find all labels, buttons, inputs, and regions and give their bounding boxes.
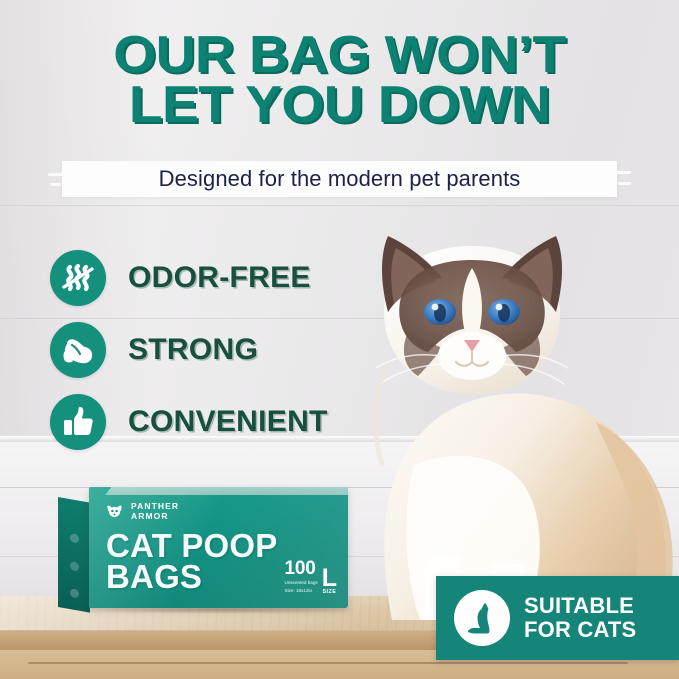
box-side-marks: [64, 532, 84, 600]
badge-line-2: FOR CATS: [524, 618, 636, 642]
panther-head-icon: [105, 502, 124, 521]
flexed-bicep-icon: [50, 322, 106, 378]
box-fine-print-2: Size: 18x12in: [285, 588, 318, 595]
drawer-seam: [28, 662, 628, 664]
headline-line-1: OUR BAG WON’T: [0, 33, 679, 79]
feature-label-odor-free: ODOR-FREE: [128, 261, 311, 295]
ragdoll-cat-photo: [296, 216, 679, 620]
odor-waves-slash-icon: [50, 250, 106, 306]
badge-text: SUITABLE FOR CATS: [524, 594, 636, 642]
suitable-for-cats-badge: SUITABLE FOR CATS: [436, 576, 679, 660]
sitting-cat-silhouette-icon: [462, 598, 502, 638]
brand-lockup: PANTHER ARMOR: [105, 501, 179, 522]
feature-item-strong: STRONG: [50, 319, 328, 381]
feature-label-convenient: CONVENIENT: [128, 405, 328, 439]
brand-text: PANTHER ARMOR: [131, 501, 179, 522]
headline: OUR BAG WON’T LET YOU DOWN: [0, 33, 679, 129]
box-size-letter: L: [322, 568, 337, 590]
box-count-left: 100 Unscented bags Size: 18x12in: [285, 559, 318, 595]
box-size-block: L SIZE: [322, 568, 337, 596]
feature-item-odor-free: ODOR-FREE: [50, 247, 328, 309]
box-count-block: 100 Unscented bags Size: 18x12in L SIZE: [285, 559, 337, 595]
thumbs-up-icon: [50, 394, 106, 450]
feature-list: ODOR-FREE STRONG CONVENIENT: [50, 247, 328, 463]
headline-line-2: LET YOU DOWN: [0, 83, 679, 129]
box-title-line-2: BAGS: [106, 562, 278, 593]
brand-line-1: PANTHER: [131, 501, 179, 511]
advertisement-image: OUR BAG WON’T LET YOU DOWN Designed for …: [0, 0, 679, 679]
box-count-number: 100: [285, 559, 318, 578]
feature-label-strong: STRONG: [128, 333, 258, 367]
wall-panel-line: [0, 205, 679, 206]
subtitle-text: Designed for the modern pet parents: [48, 166, 631, 192]
box-side-panel: [58, 497, 90, 613]
badge-icon-circle: [454, 590, 510, 646]
box-top-flap: [105, 487, 348, 495]
box-title: CAT POOP BAGS: [106, 531, 278, 592]
product-box: PANTHER ARMOR CAT POOP BAGS 100 Unscente…: [58, 487, 348, 613]
box-size-word: SIZE: [322, 589, 336, 595]
feature-item-convenient: CONVENIENT: [50, 391, 328, 453]
box-fine-print-1: Unscented bags: [285, 580, 318, 587]
badge-line-1: SUITABLE: [524, 594, 636, 618]
brand-line-2: ARMOR: [131, 511, 179, 521]
box-front-panel: PANTHER ARMOR CAT POOP BAGS 100 Unscente…: [89, 487, 348, 608]
subtitle-banner: Designed for the modern pet parents: [48, 157, 631, 201]
